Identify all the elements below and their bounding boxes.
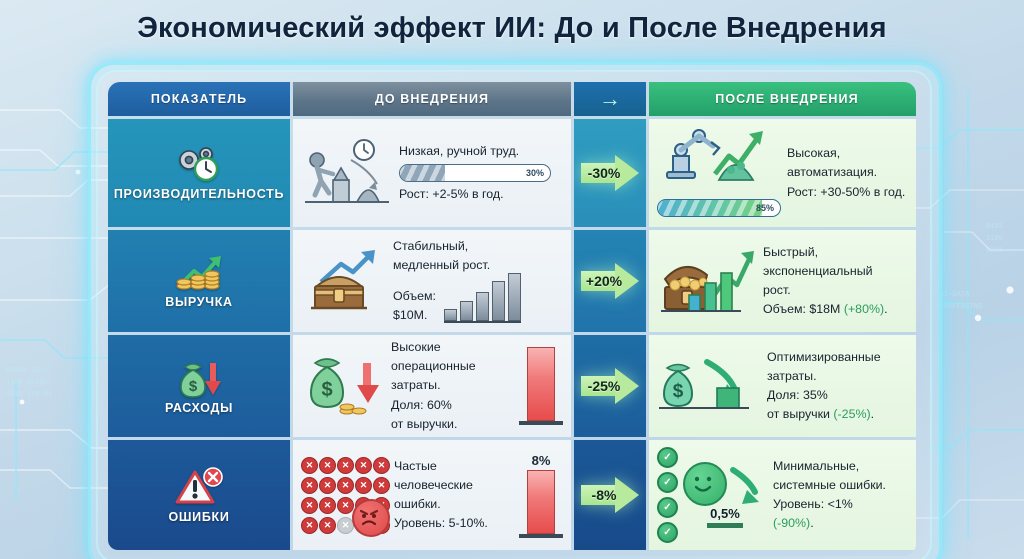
- delta-value: -25%: [581, 368, 639, 404]
- metric-label: РАСХОДЫ: [165, 401, 233, 415]
- down-arrow-icon: [727, 464, 767, 504]
- svg-text:$: $: [321, 379, 332, 401]
- before-text-line2: медленный рост.: [393, 258, 563, 273]
- delta-cell-productivity: -30%: [574, 119, 646, 227]
- delta-arrow-icon: -25%: [581, 368, 639, 404]
- after-cell-costs: $ Оптимизированные затраты. Доля: 35% от…: [649, 335, 916, 437]
- metric-label: ВЫРУЧКА: [165, 295, 233, 309]
- after-share-suffix: .: [871, 407, 874, 421]
- after-text-line4: Объем: $18M (+80%).: [763, 302, 916, 317]
- delta-value: -8%: [581, 477, 639, 513]
- after-text-line4: от выручки (-25%).: [767, 407, 916, 422]
- after-level-suffix: .: [810, 516, 813, 530]
- after-cell-productivity: 85% Высокая, автоматизация. Рост: +30-50…: [649, 119, 916, 227]
- after-delta-badge: (-25%): [833, 407, 870, 421]
- delta-value: +20%: [581, 263, 639, 299]
- money-bag-coins-icon: $: [301, 351, 385, 421]
- after-text-line2: экспоненциальный: [763, 264, 916, 279]
- before-cell-productivity: Низкая, ручной труд. 30% Рост: +2-5% в г…: [293, 119, 571, 227]
- before-text-line2: операционные: [391, 359, 513, 374]
- after-text-line1: Минимальные,: [773, 459, 916, 474]
- after-text-line3: Рост: +30-50% в год.: [787, 185, 916, 200]
- error-column-chart-before: 8%: [519, 453, 563, 538]
- delta-arrow-icon: -8%: [581, 477, 639, 513]
- money-bag-down-icon: $: [173, 357, 225, 399]
- after-cell-revenue: Быстрый, экспоненциальный рост. Объем: $…: [649, 230, 916, 332]
- svg-text:$: $: [673, 381, 684, 402]
- before-text-line2: Рост: +2-5% в год.: [399, 187, 563, 202]
- before-text-line1: Низкая, ручной труд.: [399, 144, 563, 159]
- before-text-line3: Объем:: [393, 289, 436, 304]
- metric-cell-productivity: ПРОИЗВОДИТЕЛЬНОСТЬ: [108, 119, 290, 227]
- after-text-line3: рост.: [763, 283, 916, 298]
- error-level-label: 0,5%: [710, 506, 740, 521]
- before-text-line1: Частые: [394, 459, 513, 474]
- after-text-line3: Уровень: <1%: [773, 497, 916, 512]
- svg-text:PROCESSING: PROCESSING: [940, 303, 982, 311]
- progress-bar-value: 85%: [756, 203, 774, 213]
- after-text-line1: Быстрый,: [763, 245, 916, 260]
- header-cell-after: ПОСЛЕ ВНЕДРЕНИЯ: [649, 82, 916, 116]
- svg-text:1100: 1100: [986, 235, 1003, 243]
- before-text-line1: Стабильный,: [393, 239, 563, 254]
- arrow-right-icon: →: [574, 82, 646, 116]
- comparison-table: ПОКАЗАТЕЛЬ ДО ВНЕДРЕНИЯ → ПОСЛЕ ВНЕДРЕНИ…: [108, 82, 916, 556]
- cost-column-chart-before: [519, 347, 563, 425]
- infographic-canvas: 01001 1011 1100 01101 0010 110 01 0101 1…: [0, 0, 1024, 559]
- manual-worker-icon: [301, 136, 393, 210]
- after-volume-suffix: .: [884, 302, 887, 316]
- before-text-line5: от выручки.: [391, 417, 513, 432]
- metric-cell-errors: ОШИБКИ: [108, 440, 290, 550]
- before-text-line1: Высокие: [391, 340, 513, 355]
- before-cell-costs: $ Высокие операционные затраты. До: [293, 335, 571, 437]
- metric-label: ПРОИЗВОДИТЕЛЬНОСТЬ: [114, 187, 284, 201]
- delta-cell-costs: -25%: [574, 335, 646, 437]
- svg-text:01001 1011: 01001 1011: [6, 367, 48, 375]
- open-treasure-chest-icon: [657, 245, 757, 317]
- before-text-line3: затраты.: [391, 378, 513, 393]
- before-text-line4: $10M.: [393, 308, 436, 323]
- after-delta-badge: (-90%): [773, 516, 810, 530]
- mini-bar-chart-before: [444, 277, 521, 323]
- metric-cell-revenue: ВЫРУЧКА: [108, 230, 290, 332]
- treasure-chest-icon: [301, 246, 387, 316]
- svg-text:$: $: [189, 378, 198, 395]
- svg-text:0101: 0101: [986, 223, 1003, 231]
- error-grid-angry-face-icon: ✕✕✕✕✕ ✕✕✕✕✕ ✕✕✕✕✕ ✕✕✕✕✕: [301, 457, 388, 534]
- header-cell-metric: ПОКАЗАТЕЛЬ: [108, 82, 290, 116]
- gears-clock-icon: [173, 145, 225, 185]
- warning-error-icon: [173, 466, 225, 508]
- angry-face-icon: [352, 499, 390, 537]
- before-cell-errors: ✕✕✕✕✕ ✕✕✕✕✕ ✕✕✕✕✕ ✕✕✕✕✕: [293, 440, 571, 550]
- before-text-line4: Уровень: 5-10%.: [394, 516, 513, 531]
- after-text-line2: автоматизация.: [787, 165, 916, 180]
- metric-label: ОШИБКИ: [168, 510, 229, 524]
- after-volume-label: Объем: $18M: [763, 302, 844, 316]
- delta-value: -30%: [581, 155, 639, 191]
- after-text-line2: системные ошибки.: [773, 478, 916, 493]
- after-text-line4: (-90%).: [773, 516, 916, 531]
- svg-text:0010 110 01: 0010 110 01: [6, 391, 52, 399]
- happy-face-icon: [683, 462, 727, 506]
- after-text-line1: Высокая,: [787, 146, 916, 161]
- error-column-label: 8%: [532, 453, 551, 468]
- header-cell-before: ДО ВНЕДРЕНИЯ: [293, 82, 571, 116]
- money-bag-arrow-down-icon: $: [657, 352, 761, 420]
- after-text-line3: Доля: 35%: [767, 388, 916, 403]
- header-label-before: ДО ВНЕДРЕНИЯ: [293, 82, 571, 116]
- svg-text:AI-DATA: AI-DATA: [940, 291, 970, 299]
- delta-cell-revenue: +20%: [574, 230, 646, 332]
- svg-text:1100 01101: 1100 01101: [6, 379, 48, 387]
- progress-bar-value: 30%: [526, 168, 544, 178]
- header-label-after: ПОСЛЕ ВНЕДРЕНИЯ: [649, 82, 916, 116]
- delta-cell-errors: -8%: [574, 440, 646, 550]
- before-cell-revenue: Стабильный, медленный рост. Объем: $10M.: [293, 230, 571, 332]
- coins-growth-icon: [172, 253, 226, 293]
- delta-arrow-icon: +20%: [581, 263, 639, 299]
- header-cell-arrow: →: [574, 82, 646, 116]
- after-delta-badge: (+80%): [844, 302, 884, 316]
- after-share-label: от выручки: [767, 407, 833, 421]
- page-title: Экономический эффект ИИ: До и После Внед…: [0, 12, 1024, 45]
- header-label-metric: ПОКАЗАТЕЛЬ: [108, 82, 290, 116]
- delta-arrow-icon: -30%: [581, 155, 639, 191]
- progress-bar-before: 30%: [399, 164, 551, 182]
- before-text-line4: Доля: 60%: [391, 398, 513, 413]
- before-text-line3: ошибки.: [394, 497, 513, 512]
- after-text-line1: Оптимизированные: [767, 350, 916, 365]
- progress-bar-after: 85%: [657, 199, 781, 217]
- robot-arm-growth-icon: 85%: [657, 124, 781, 222]
- after-text-line2: затраты.: [767, 369, 916, 384]
- after-cell-errors: ✓✓✓✓: [649, 440, 916, 550]
- metric-cell-costs: $ РАСХОДЫ: [108, 335, 290, 437]
- svg-text:0011: 0011: [986, 247, 1003, 255]
- before-text-line2: человеческие: [394, 478, 513, 493]
- checkmarks-happy-face-icon: ✓✓✓✓: [657, 447, 767, 543]
